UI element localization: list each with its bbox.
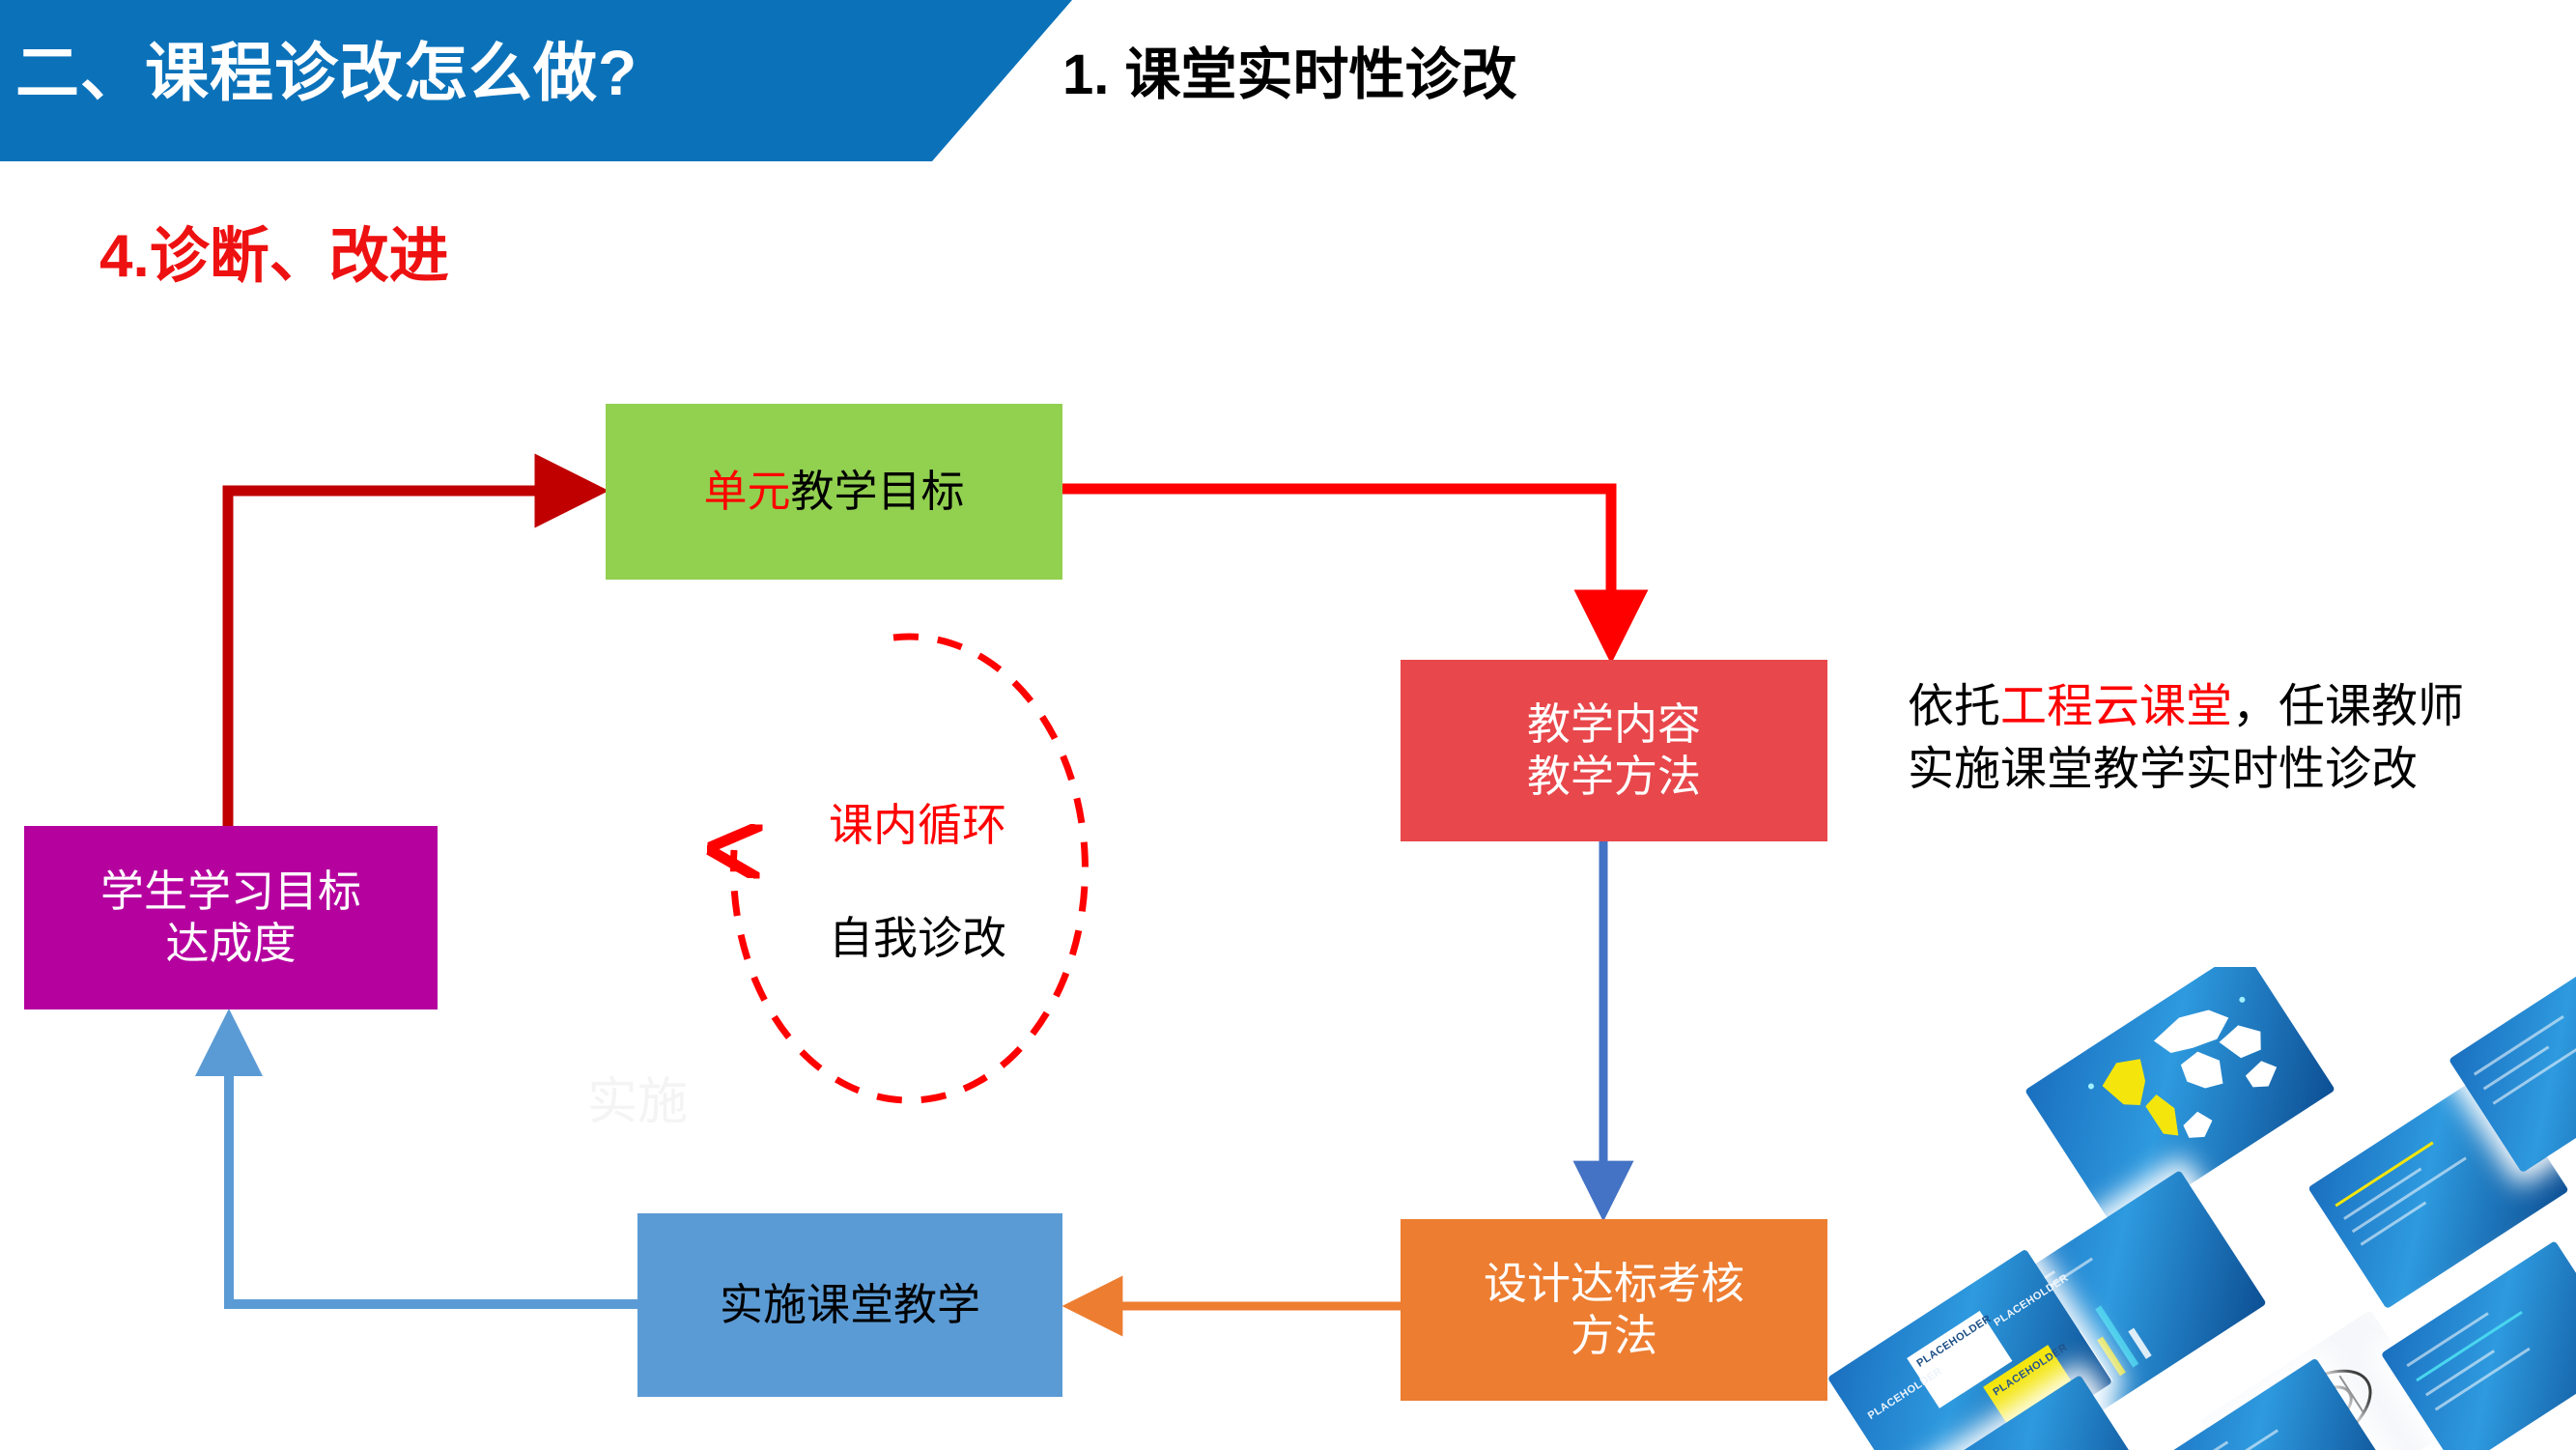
flow-box-student-goal-attainment-line1: 学生学习目标 [100, 867, 361, 916]
deco-card-chart-2 [1902, 1375, 2159, 1450]
side-note-text: 依托工程云课堂，任课教师实施课堂教学实时性诊改 [1908, 676, 2487, 802]
decorative-slides-image: PLACEHOLDER PLACEHOLDER PLACEHOLDER PLAC… [1803, 967, 2576, 1450]
gear-icon [2200, 1310, 2449, 1450]
watermark-implement-text: 实施 [587, 1061, 688, 1133]
flow-box-teaching-content-line1: 教学内容 [1527, 699, 1701, 749]
side-note-prefix: 依托 [1908, 681, 2000, 732]
flow-box-teaching-content-line2: 教学方法 [1527, 752, 1701, 801]
side-note-highlight: 工程云课堂 [2000, 681, 2232, 732]
page-subheading: 4.诊断、改进 [99, 207, 449, 294]
flow-box-unit-goal-highlight: 单元 [703, 467, 790, 516]
arrow-goal-to-content [1062, 489, 1611, 649]
header-section-title: 二、课程诊改怎么做? [15, 21, 885, 114]
flow-box-implement-class-teaching-label: 实施课堂教学 [720, 1279, 980, 1331]
arrow-teach-to-student [229, 1022, 637, 1304]
deco-card-gear [2200, 1310, 2449, 1450]
flow-box-student-goal-attainment-line2: 达成度 [165, 919, 296, 968]
flow-box-unit-goal-label: 教学目标 [791, 467, 965, 516]
flow-box-unit-goal[interactable]: 单元教学目标 [606, 404, 1062, 580]
deco-card-placeholder: PLACEHOLDER PLACEHOLDER PLACEHOLDER PLAC… [1827, 1249, 2112, 1450]
deco-placeholder-label-4: PLACEHOLDER [1991, 1342, 2069, 1399]
deco-card-list-1 [2307, 1069, 2568, 1309]
flow-box-student-goal-attainment[interactable]: 学生学习目标 达成度 [24, 826, 438, 1009]
deco-card-top-right [2449, 967, 2576, 1173]
deco-card-list-3 [2130, 1357, 2395, 1450]
arrow-student-to-goal [228, 491, 594, 826]
deco-placeholder-label-3: PLACEHOLDER [1992, 1272, 2070, 1329]
flow-box-design-assessment-method[interactable]: 设计达标考核 方法 [1401, 1219, 1827, 1401]
inner-loop-dashed-ellipse [733, 637, 1085, 1100]
deco-card-worldmap [2024, 967, 2335, 1232]
slide-canvas: 二、课程诊改怎么做? 1. 课堂实时性诊改 4.诊断、改进 [0, 0, 2576, 1450]
deco-card-list-2 [2381, 1240, 2576, 1450]
inner-loop-label-primary: 课内循环 [792, 790, 1043, 854]
inner-loop-label-secondary: 自我诊改 [782, 903, 1053, 967]
deco-placeholder-label-2: PLACEHOLDER [1914, 1313, 1993, 1370]
flow-box-design-assessment-method-line1: 设计达标考核 [1484, 1259, 1744, 1308]
flow-box-implement-class-teaching[interactable]: 实施课堂教学 [637, 1213, 1062, 1397]
flow-box-design-assessment-method-line2: 方法 [1571, 1311, 1657, 1360]
deco-card-chart [1977, 1170, 2267, 1436]
header-sub-title: 1. 课堂实时性诊改 [1062, 29, 1517, 110]
world-map-icon [2024, 967, 2335, 1232]
deco-placeholder-label-1: PLACEHOLDER [1866, 1365, 1944, 1422]
flow-box-teaching-content[interactable]: 教学内容 教学方法 [1401, 660, 1827, 841]
